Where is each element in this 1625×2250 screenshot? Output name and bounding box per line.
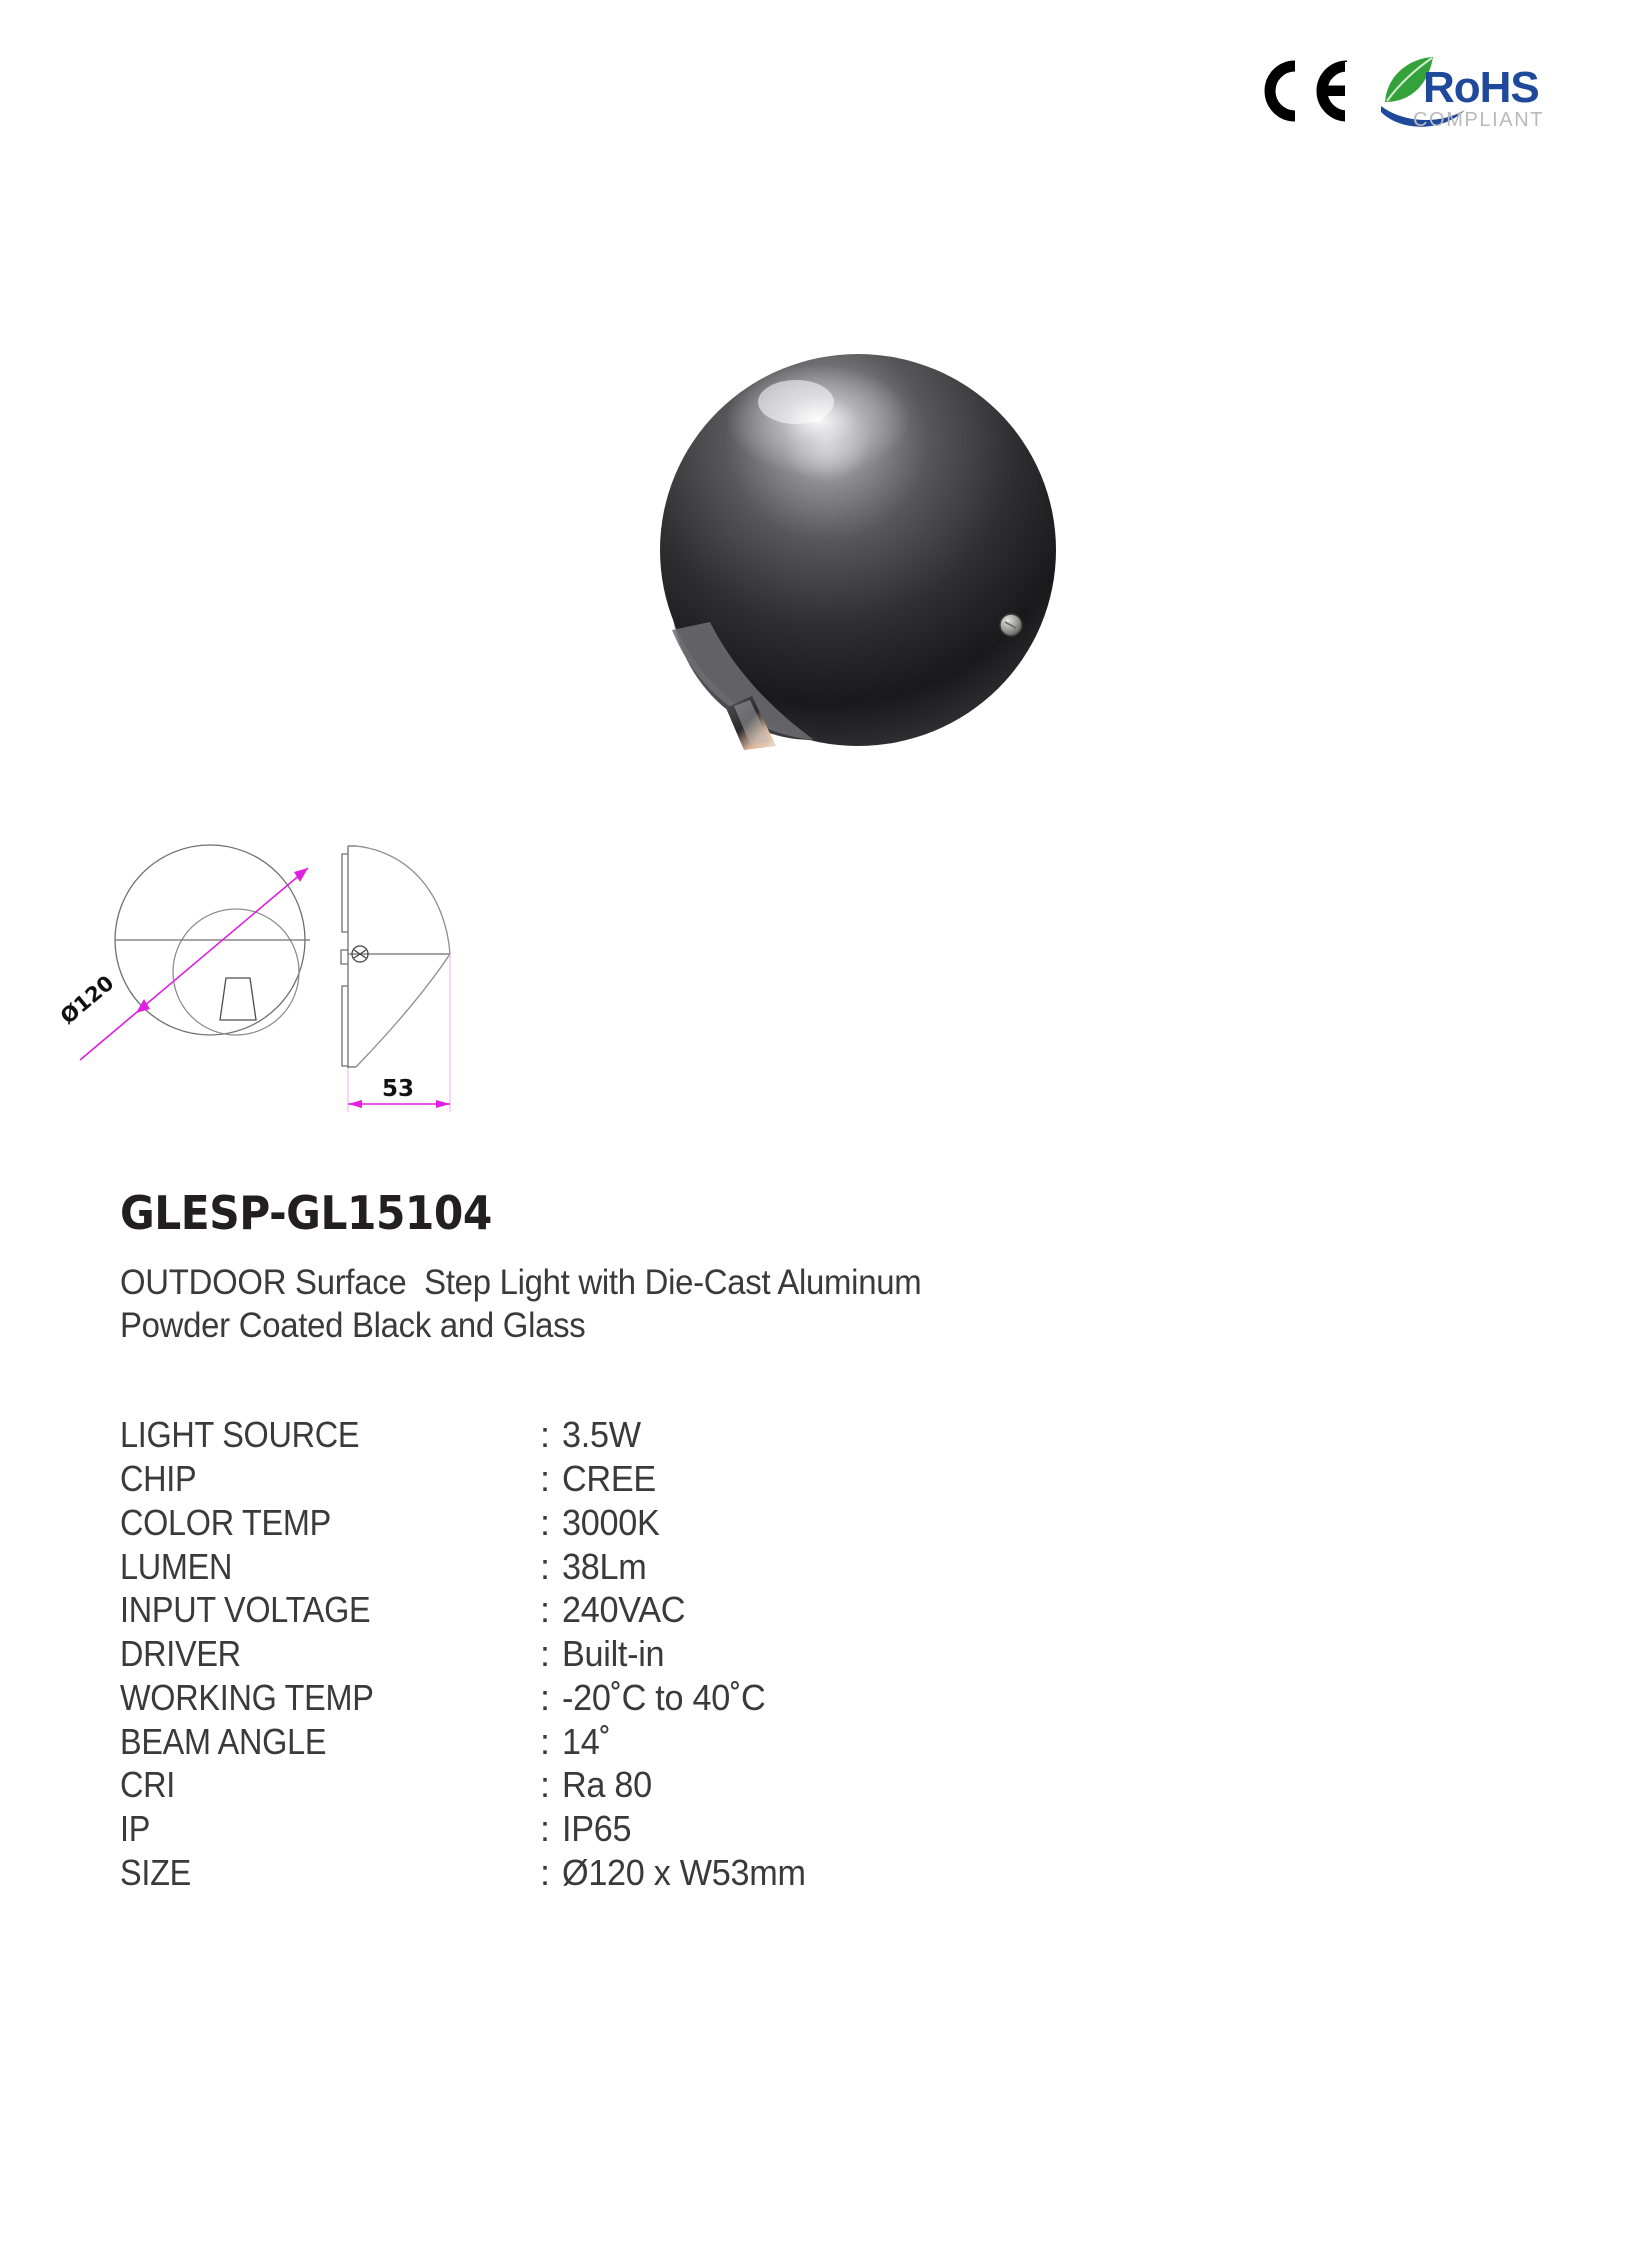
- spec-label: LUMEN: [120, 1545, 498, 1589]
- spec-separator: :: [540, 1545, 562, 1589]
- rohs-title: RoHS: [1423, 63, 1539, 112]
- spec-label: INPUT VOLTAGE: [120, 1588, 498, 1632]
- spec-value: 38Lm: [562, 1545, 646, 1589]
- side-view-drawing: [341, 846, 450, 1068]
- spec-value: Ø120 x W53mm: [562, 1851, 806, 1895]
- spec-row: LUMEN:38Lm: [120, 1545, 1535, 1589]
- spec-row: BEAM ANGLE:14˚: [120, 1720, 1535, 1764]
- spec-row: LIGHT SOURCE:3.5W: [120, 1413, 1535, 1457]
- certification-logos: COMPLIANT RoHS: [1255, 52, 1555, 130]
- spec-separator: :: [540, 1588, 562, 1632]
- spec-label: CRI: [120, 1763, 498, 1807]
- spec-separator: :: [540, 1413, 562, 1457]
- spec-label: COLOR TEMP: [120, 1501, 498, 1545]
- product-description-line-2: Powder Coated Black and Glass: [120, 1305, 1450, 1348]
- spec-label: CHIP: [120, 1457, 498, 1501]
- spec-value: CREE: [562, 1457, 656, 1501]
- spec-row: WORKING TEMP:-20˚C to 40˚C: [120, 1676, 1535, 1720]
- spec-row: IP:IP65: [120, 1807, 1535, 1851]
- dome-highlight: [726, 364, 910, 476]
- product-model-title: GLESP-GL15104: [120, 1190, 1422, 1236]
- spec-separator: :: [540, 1501, 562, 1545]
- side-view-dimension-label: 53: [382, 1076, 414, 1102]
- datasheet-page: COMPLIANT RoHS: [0, 0, 1625, 2250]
- spec-value: 14˚: [562, 1720, 611, 1764]
- front-view-dimension-label: Ø120: [60, 971, 118, 1029]
- ce-mark-icon: [1255, 60, 1351, 122]
- spec-separator: :: [540, 1763, 562, 1807]
- product-description-line-1: OUTDOOR Surface Step Light with Die-Cast…: [120, 1262, 1450, 1305]
- spec-value: -20˚C to 40˚C: [562, 1676, 765, 1720]
- spec-row: DRIVER:Built-in: [120, 1632, 1535, 1676]
- spec-separator: :: [540, 1632, 562, 1676]
- spec-label: LIGHT SOURCE: [120, 1413, 498, 1457]
- spec-separator: :: [540, 1851, 562, 1895]
- spec-separator: :: [540, 1457, 562, 1501]
- screw-icon: [1000, 614, 1022, 636]
- spec-label: SIZE: [120, 1851, 498, 1895]
- product-info: GLESP-GL15104 OUTDOOR Surface Step Light…: [120, 1190, 1535, 1894]
- dome-highlight-core: [758, 380, 834, 424]
- spec-value: IP65: [562, 1807, 631, 1851]
- spec-value: Ra 80: [562, 1763, 652, 1807]
- spec-separator: :: [540, 1676, 562, 1720]
- spec-separator: :: [540, 1720, 562, 1764]
- spec-row: CHIP:CREE: [120, 1457, 1535, 1501]
- spec-label: IP: [120, 1807, 498, 1851]
- rohs-subtitle: COMPLIANT: [1413, 109, 1544, 130]
- side-view-dimension: 53: [348, 954, 450, 1112]
- product-photo: [600, 330, 1100, 790]
- spec-value: 3000K: [562, 1501, 659, 1545]
- spec-row: CRI:Ra 80: [120, 1763, 1535, 1807]
- product-description: OUTDOOR Surface Step Light with Die-Cast…: [120, 1262, 1450, 1347]
- spec-row: INPUT VOLTAGE:240VAC: [120, 1588, 1535, 1632]
- spec-label: DRIVER: [120, 1632, 498, 1676]
- spec-row: COLOR TEMP:3000K: [120, 1501, 1535, 1545]
- spec-label: WORKING TEMP: [120, 1676, 498, 1720]
- spec-value: 3.5W: [562, 1413, 641, 1457]
- specifications-table: LIGHT SOURCE:3.5WCHIP:CREECOLOR TEMP:300…: [120, 1413, 1535, 1894]
- rohs-compliant-logo: COMPLIANT RoHS: [1377, 52, 1555, 130]
- technical-drawings: Ø120: [60, 820, 680, 1130]
- spec-row: SIZE:Ø120 x W53mm: [120, 1851, 1535, 1895]
- spec-label: BEAM ANGLE: [120, 1720, 498, 1764]
- spec-value: Built-in: [562, 1632, 664, 1676]
- spec-value: 240VAC: [562, 1588, 685, 1632]
- spec-separator: :: [540, 1807, 562, 1851]
